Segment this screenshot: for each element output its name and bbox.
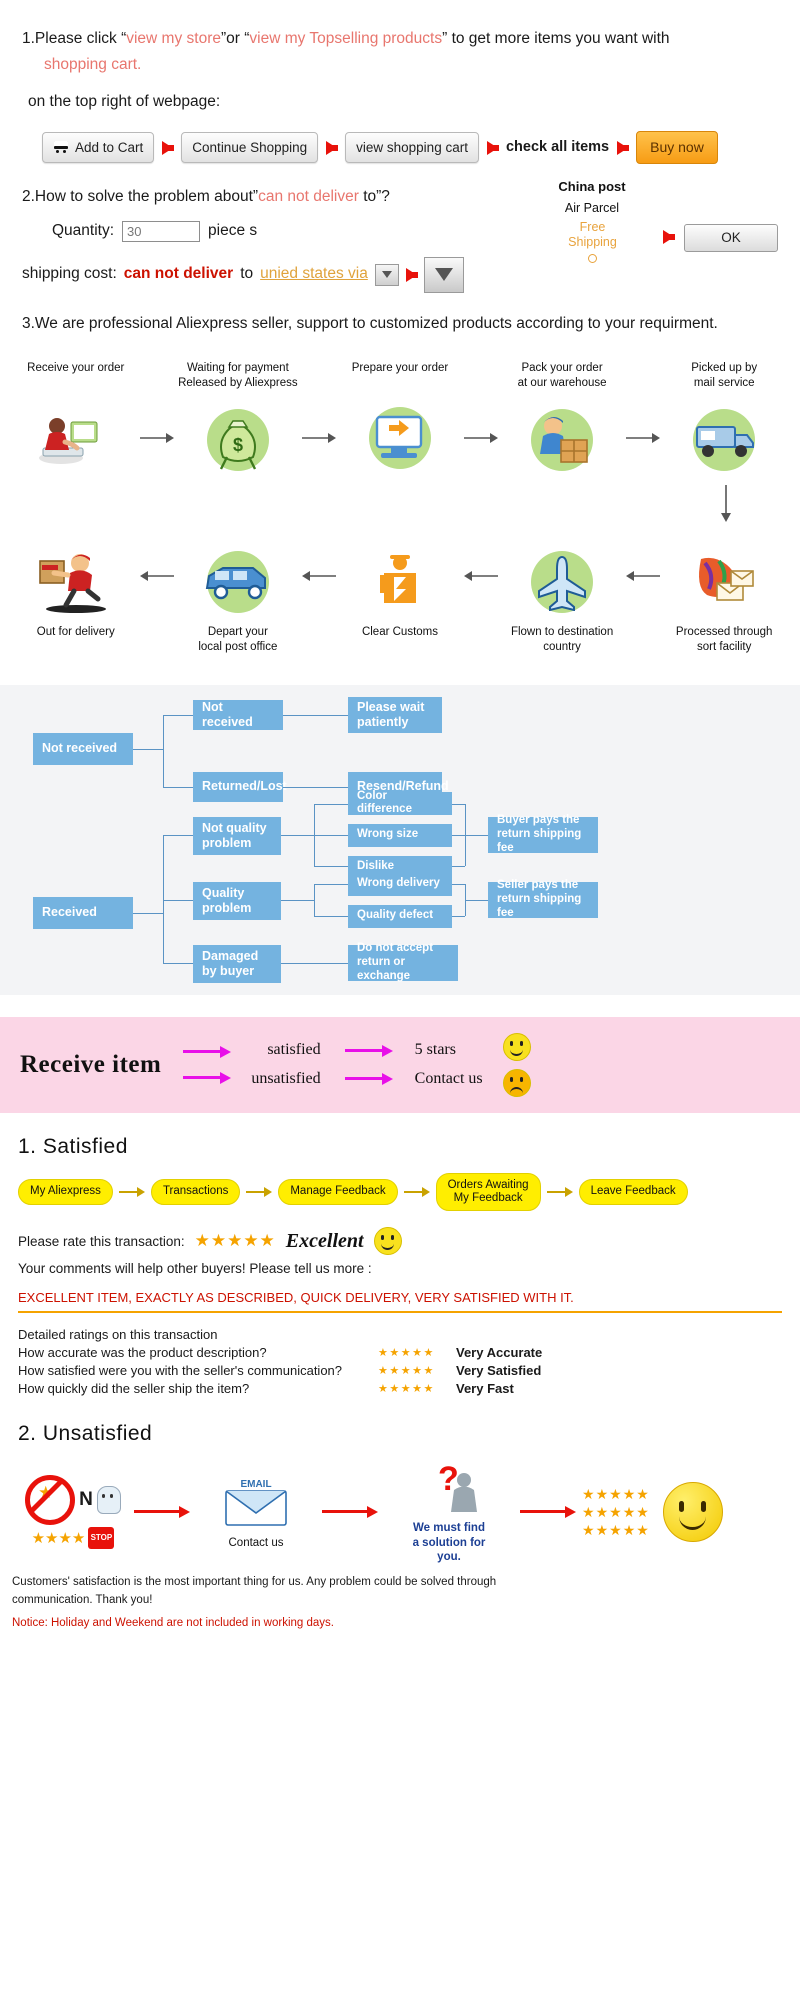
arrow-right-icon [326, 141, 337, 155]
star-icon: ★ [582, 1522, 595, 1539]
section2-heading: 2.How to solve the problem about”can not… [22, 186, 778, 208]
connector [465, 835, 488, 836]
star-icon: ★ [596, 1504, 609, 1521]
section-3: 3.We are professional Aliexpress seller,… [0, 293, 800, 335]
connector [163, 963, 193, 964]
s1-post: ” to get more items you want with [442, 30, 669, 47]
flowbox-received-root: Received [33, 897, 133, 929]
arrow-left-icon [138, 533, 177, 619]
arrow-right-icon [162, 141, 173, 155]
flow-bottom-row: Out for delivery Depart your local post … [14, 533, 786, 655]
star-grid: ★★★★★ ★★★★★ ★★★★★ [582, 1486, 649, 1539]
arrow-right-icon [246, 1187, 272, 1197]
continue-shopping-button[interactable]: Continue Shopping [181, 132, 318, 164]
flow-caption: Picked up by mail service [662, 361, 786, 391]
rating-label: Very Satisfied [456, 1363, 541, 1378]
connector [163, 835, 193, 836]
country-select-value[interactable]: unied states via [260, 263, 368, 285]
receive-item-banner: Receive item satisfied unsatisfied 5 sta… [0, 1017, 800, 1113]
flow-caption: Waiting for payment Released by Aliexpre… [176, 361, 300, 391]
connector [452, 835, 465, 836]
star-icon: ★ [38, 1483, 53, 1503]
arrow-right-icon [134, 1506, 190, 1518]
star-icon: ★ [636, 1504, 649, 1521]
flow-caption: Prepare your order [338, 361, 462, 389]
view-cart-button[interactable]: view shopping cart [345, 132, 479, 164]
china-post-title: China post [532, 178, 652, 197]
chevron-down-icon [382, 271, 392, 278]
connector [281, 900, 314, 901]
flowbox-not-received-root: Not received [33, 733, 133, 765]
star-icon: ★ [623, 1522, 636, 1539]
china-post-block: China post Air Parcel [532, 178, 652, 217]
arrow-right-icon [300, 395, 339, 481]
unsatisfied-title: 2. Unsatisfied [18, 1422, 782, 1446]
rating-label: Very Accurate [456, 1345, 542, 1360]
star-icon: ★ [623, 1504, 636, 1521]
flow-step-out-for-delivery: Out for delivery [14, 533, 138, 653]
s2-red: can not deliver [258, 188, 359, 205]
free-shipping-block: Free Shipping [535, 220, 650, 263]
connector [133, 913, 163, 914]
magenta-arrow-icon [345, 1073, 393, 1085]
rating-row: How accurate was the product description… [18, 1345, 782, 1360]
chevron-down-icon [435, 268, 453, 281]
continue-shopping-label: Continue Shopping [192, 138, 307, 158]
star-icon: ★ [609, 1504, 622, 1521]
connector [465, 900, 488, 901]
rate-transaction-row: Please rate this transaction: ★★★★★ Exce… [18, 1227, 782, 1255]
unsatisfied-flow: ★ N ★★★★ STOP EMAIL [18, 1460, 782, 1564]
arrow-left-icon [624, 533, 663, 619]
buy-now-button[interactable]: Buy now [636, 131, 718, 163]
flow-step-waiting-payment: Waiting for payment Released by Aliexpre… [176, 361, 300, 483]
section1-line3: on the top right of webpage: [22, 91, 778, 113]
star-icon: ★ [636, 1522, 649, 1539]
star-icon: ★★★★ [32, 1529, 86, 1547]
view-topselling-link[interactable]: view my Topselling products [249, 30, 442, 47]
flow-caption: Receive your order [14, 361, 138, 389]
arrow-right-icon [487, 141, 498, 155]
question-mark-icon: ? [408, 1460, 490, 1516]
section-1: 1.Please click “view my store”or “view m… [0, 0, 800, 164]
connector [314, 835, 348, 836]
air-parcel-title: Air Parcel [532, 199, 652, 217]
star-icon: ★ [636, 1486, 649, 1503]
receive-item-label: Receive item [20, 1051, 161, 1079]
no-entry-icon: ★ [25, 1475, 75, 1525]
footer-note: Customers' satisfaction is the most impo… [0, 1564, 800, 1656]
flow-caption: Depart your local post office [176, 625, 300, 655]
section3-text: 3.We are professional Aliexpress seller,… [22, 313, 778, 335]
connector [452, 916, 465, 917]
rating-row: How satisfied were you with the seller's… [18, 1363, 782, 1378]
flowbox-damaged-by-buyer: Damaged by buyer [193, 945, 281, 983]
ok-button[interactable]: OK [684, 224, 778, 252]
connector [283, 787, 348, 788]
final-rating-group: ★★★★★ ★★★★★ ★★★★★ [582, 1482, 723, 1542]
contact-us-group: EMAIL Contact us [196, 1475, 316, 1550]
step-transactions[interactable]: Transactions [151, 1179, 240, 1204]
big-happy-face-icon [663, 1482, 723, 1542]
flow-caption: Out for delivery [14, 625, 138, 653]
unsatisfied-section: 2. Unsatisfied ★ N ★★★★ STOP [0, 1396, 800, 1564]
contact-us-caption: Contact us [196, 1536, 316, 1550]
connector [163, 835, 164, 963]
connector [283, 715, 348, 716]
arrow-right-icon [322, 1506, 378, 1518]
arrow-right-icon [520, 1506, 576, 1518]
worker-packing-icon [500, 397, 624, 483]
connector [163, 715, 164, 787]
country-dropdown-toggle[interactable] [375, 264, 399, 286]
flow-top-row: Receive your order Wait [14, 361, 786, 483]
flowbox-not-received-branch: Not received [193, 700, 283, 730]
rating-question: How accurate was the product description… [18, 1345, 378, 1360]
section-2: 2.How to solve the problem about”can not… [0, 164, 800, 293]
five-stars-label: 5 stars [415, 1036, 483, 1065]
running-courier-icon [14, 539, 138, 625]
flowbox-wrong-size: Wrong size [348, 824, 452, 847]
airplane-icon [500, 539, 624, 625]
satisfied-section: 1. Satisfied My Aliexpress Transactions … [0, 1113, 800, 1396]
flowbox-color-difference: Color difference [348, 792, 452, 815]
flowbox-no-return-exchange: Do not accept return or exchange [348, 945, 458, 981]
satisfied-label: satisfied [251, 1036, 320, 1065]
flowbox-not-quality-problem: Not quality problem [193, 817, 281, 855]
flow-caption: Clear Customs [338, 625, 462, 653]
checkout-step-buttons: Add to Cart Continue Shopping view shopp… [42, 131, 778, 163]
flowbox-seller-pays: Seller pays the return shipping fee [488, 882, 598, 918]
arrow-right-icon [119, 1187, 145, 1197]
connector [281, 835, 314, 836]
connector [314, 804, 348, 805]
flow-step-picked-up: Picked up by mail service [662, 361, 786, 483]
view-my-store-link[interactable]: view my store [126, 30, 221, 47]
footer-line2: communication. Thank you! [12, 1592, 790, 1609]
step-leave-feedback[interactable]: Leave Feedback [579, 1179, 688, 1204]
bad-rating-group: ★ N ★★★★ STOP [18, 1475, 128, 1549]
email-envelope-icon: EMAIL [210, 1475, 302, 1531]
step-orders-awaiting[interactable]: Orders Awaiting My Feedback [436, 1173, 541, 1211]
to-text: to [240, 263, 253, 285]
step-manage-feedback[interactable]: Manage Feedback [278, 1179, 397, 1204]
flow-step-clear-customs: Clear Customs [338, 533, 462, 653]
flow-step-depart-post-office: Depart your local post office [176, 533, 300, 655]
connector [163, 715, 193, 716]
arrow-right-icon [617, 141, 628, 155]
detailed-ratings: Detailed ratings on this transaction How… [18, 1327, 782, 1396]
rate-prompt: Please rate this transaction: [18, 1234, 185, 1249]
flow-caption: Pack your order at our warehouse [500, 361, 624, 391]
star-icon: ★ [609, 1522, 622, 1539]
svg-text:$: $ [233, 435, 243, 455]
product-policy-page: 1.Please click “view my store”or “view m… [0, 0, 800, 1656]
arrow-right-icon [406, 268, 417, 282]
rating-stars[interactable]: ★★★★★ [195, 1231, 276, 1251]
quantity-input[interactable]: 30 [122, 221, 200, 242]
quantity-label: Quantity: [52, 220, 114, 242]
feedback-steps: My Aliexpress Transactions Manage Feedba… [18, 1173, 782, 1211]
magenta-arrow-icon [345, 1045, 393, 1057]
person-at-computer-icon [14, 395, 138, 481]
flow-step-prepare-order: Prepare your order [338, 361, 462, 481]
s2-post: to”? [359, 188, 390, 205]
flow-step-flown-destination: Flown to destination country [500, 533, 624, 655]
happy-face-icon [374, 1227, 402, 1255]
rating-row: How quickly did the seller ship the item… [18, 1381, 782, 1396]
sad-face-icon [503, 1069, 531, 1097]
shipping-method-dropdown[interactable] [424, 257, 464, 293]
flowbox-quality-defect: Quality defect [348, 905, 452, 928]
star-icon: ★ [609, 1486, 622, 1503]
stop-sign-icon: STOP [88, 1527, 114, 1549]
find-solution-group: ? We must find a solution for you. [384, 1460, 514, 1564]
ok-label: OK [721, 228, 741, 248]
flowbox-buyer-pays: Buyer pays the return shipping fee [488, 817, 598, 853]
flowbox-returned-lost: Returned/Lost [193, 772, 283, 802]
flow-down-arrow [14, 485, 786, 523]
connector [314, 916, 348, 917]
shipping-cost-row: shipping cost:can not deliver to unied s… [22, 257, 778, 293]
contact-us-label: Contact us [415, 1065, 483, 1094]
connector [281, 963, 348, 964]
excellent-label: Excellent [286, 1230, 364, 1253]
step-my-aliexpress[interactable]: My Aliexpress [18, 1179, 113, 1204]
s2-pre: 2.How to solve the problem about” [22, 188, 258, 205]
connector [452, 884, 465, 885]
shipping-process-flow: Receive your order Wait [0, 335, 800, 665]
star-icon: ★ [596, 1522, 609, 1539]
no-letter: N [79, 1489, 93, 1511]
view-cart-label: view shopping cart [356, 138, 468, 158]
comment-textarea[interactable]: EXCELLENT ITEM, EXACTLY AS DESCRIBED, QU… [18, 1282, 782, 1313]
flowbox-please-wait: Please wait patiently [348, 697, 442, 733]
connector [314, 866, 348, 867]
connector [163, 787, 193, 788]
magenta-arrow-icon [183, 1046, 231, 1058]
flow-step-receive-order: Receive your order [14, 361, 138, 481]
star-icon: ★ [582, 1486, 595, 1503]
happy-face-icon [503, 1033, 531, 1061]
flow-step-sort-facility: Processed through sort facility [662, 533, 786, 655]
connector [163, 900, 193, 901]
rating-stars[interactable]: ★★★★★ [378, 1364, 456, 1377]
s1-pre: 1.Please click “ [22, 30, 126, 47]
shipping-cost-label: shipping cost: [22, 263, 117, 285]
star-icon: ★ [582, 1504, 595, 1521]
worried-face-icon [97, 1486, 121, 1514]
piece-label: piece s [208, 220, 257, 242]
footer-notice: Notice: Holiday and Weekend are not incl… [12, 1615, 790, 1632]
detailed-heading: Detailed ratings on this transaction [18, 1327, 782, 1342]
section1-line2: shopping cart. [22, 54, 778, 76]
delivery-truck-icon [662, 397, 786, 483]
postal-van-icon [176, 539, 300, 625]
rating-stars[interactable]: ★★★★★ [378, 1346, 456, 1359]
cannot-deliver-text: can not deliver [124, 263, 233, 285]
arrow-right-icon [663, 230, 674, 244]
star-icon: ★ [596, 1486, 609, 1503]
info-dot-icon [588, 254, 597, 263]
flow-caption: Processed through sort facility [662, 625, 786, 655]
return-policy-flowchart: Not received Not received Returned/Lost … [0, 685, 800, 995]
solution-caption: We must find a solution for you. [384, 1521, 514, 1564]
arrow-left-icon [300, 533, 339, 619]
magenta-arrow-icon [183, 1072, 231, 1084]
flowbox-quality-problem: Quality problem [193, 882, 281, 920]
unsatisfied-label: unsatisfied [251, 1065, 320, 1094]
footer-line1: Customers' satisfaction is the most impo… [12, 1574, 790, 1591]
flow-caption: Flown to destination country [500, 625, 624, 655]
shipping-label: Shipping [568, 235, 617, 249]
shopping-cart-icon [53, 141, 70, 154]
money-bag-icon: $ [176, 397, 300, 483]
arrow-right-icon [138, 395, 177, 481]
svg-text:EMAIL: EMAIL [240, 1479, 271, 1490]
arrow-right-icon [404, 1187, 430, 1197]
comments-prompt: Your comments will help other buyers! Pl… [18, 1261, 782, 1276]
section1-line1: 1.Please click “view my store”or “view m… [22, 28, 778, 50]
flow-step-pack-order: Pack your order at our warehouse [500, 361, 624, 483]
arrow-right-icon [624, 395, 663, 481]
buy-now-label: Buy now [650, 139, 704, 155]
computer-box-icon [338, 395, 462, 481]
rating-stars[interactable]: ★★★★★ [378, 1382, 456, 1395]
customs-officer-icon [338, 539, 462, 625]
connector [133, 749, 163, 750]
add-to-cart-button[interactable]: Add to Cart [42, 132, 154, 164]
add-to-cart-label: Add to Cart [75, 138, 143, 158]
connector [452, 804, 465, 805]
rating-label: Very Fast [456, 1381, 514, 1396]
flowbox-wrong-delivery: Wrong delivery [348, 873, 452, 896]
arrow-right-icon [462, 395, 501, 481]
rating-question: How quickly did the seller ship the item… [18, 1381, 378, 1396]
satisfied-title: 1. Satisfied [18, 1135, 782, 1159]
connector [314, 884, 348, 885]
s1-mid: ”or “ [221, 30, 249, 47]
arrow-left-icon [462, 533, 501, 619]
free-label: Free [580, 220, 606, 234]
star-icon: ★ [623, 1486, 636, 1503]
mail-sorting-icon [662, 539, 786, 625]
rating-question: How satisfied were you with the seller's… [18, 1363, 378, 1378]
check-all-items-label: check all items [506, 137, 609, 158]
arrow-right-icon [547, 1187, 573, 1197]
connector [452, 866, 465, 867]
connector [314, 884, 315, 916]
